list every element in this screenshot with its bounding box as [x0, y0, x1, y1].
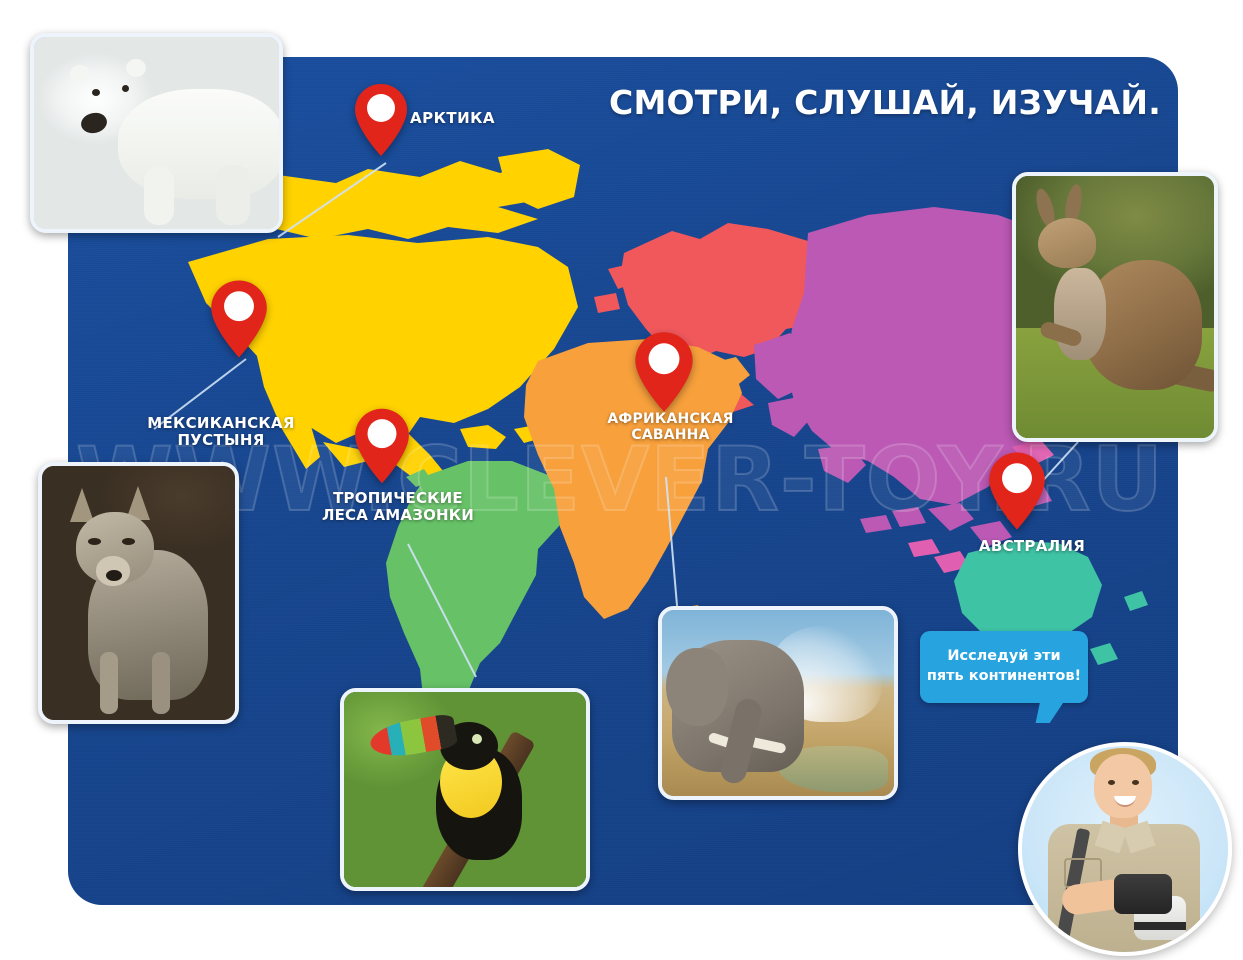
toucan-image	[344, 692, 586, 887]
location-pin-icon	[352, 82, 410, 158]
map-pin-amazon[interactable]	[352, 406, 412, 486]
polar-bear-image	[34, 37, 279, 229]
photo-polar-bear[interactable]	[30, 33, 283, 233]
location-pin-icon	[208, 278, 270, 360]
map-pin-arctic[interactable]	[352, 82, 410, 158]
region-label-australia: АВСТРАЛИЯ	[962, 538, 1102, 555]
region-label-arctic: АРКТИКА	[410, 110, 495, 127]
map-pin-australia[interactable]	[986, 450, 1048, 532]
region-label-savanna: АФРИКАНСКАЯ САВАННА	[588, 412, 753, 443]
photo-coyote[interactable]	[38, 462, 239, 724]
kangaroo-image	[1016, 176, 1214, 438]
photo-elephant[interactable]	[658, 606, 898, 800]
coyote-image	[42, 466, 235, 720]
region-label-mexico: МЕКСИКАНСКАЯ ПУСТЫНЯ	[128, 415, 314, 449]
location-pin-icon	[632, 330, 696, 414]
page-title: СМОТРИ, СЛУШАЙ, ИЗУЧАЙ.	[596, 83, 1174, 122]
photographer-avatar	[1018, 742, 1232, 956]
map-pin-mexico[interactable]	[208, 278, 270, 360]
location-pin-icon	[352, 406, 412, 486]
location-pin-icon	[986, 450, 1048, 532]
map-pin-savanna[interactable]	[632, 330, 696, 414]
photo-kangaroo[interactable]	[1012, 172, 1218, 442]
photo-toucan[interactable]	[340, 688, 590, 891]
region-label-amazon: ТРОПИЧЕСКИЕ ЛЕСА АМАЗОНКИ	[308, 490, 488, 524]
speech-bubble: Исследуй эти пять континентов!	[920, 631, 1088, 703]
elephant-image	[662, 610, 894, 796]
